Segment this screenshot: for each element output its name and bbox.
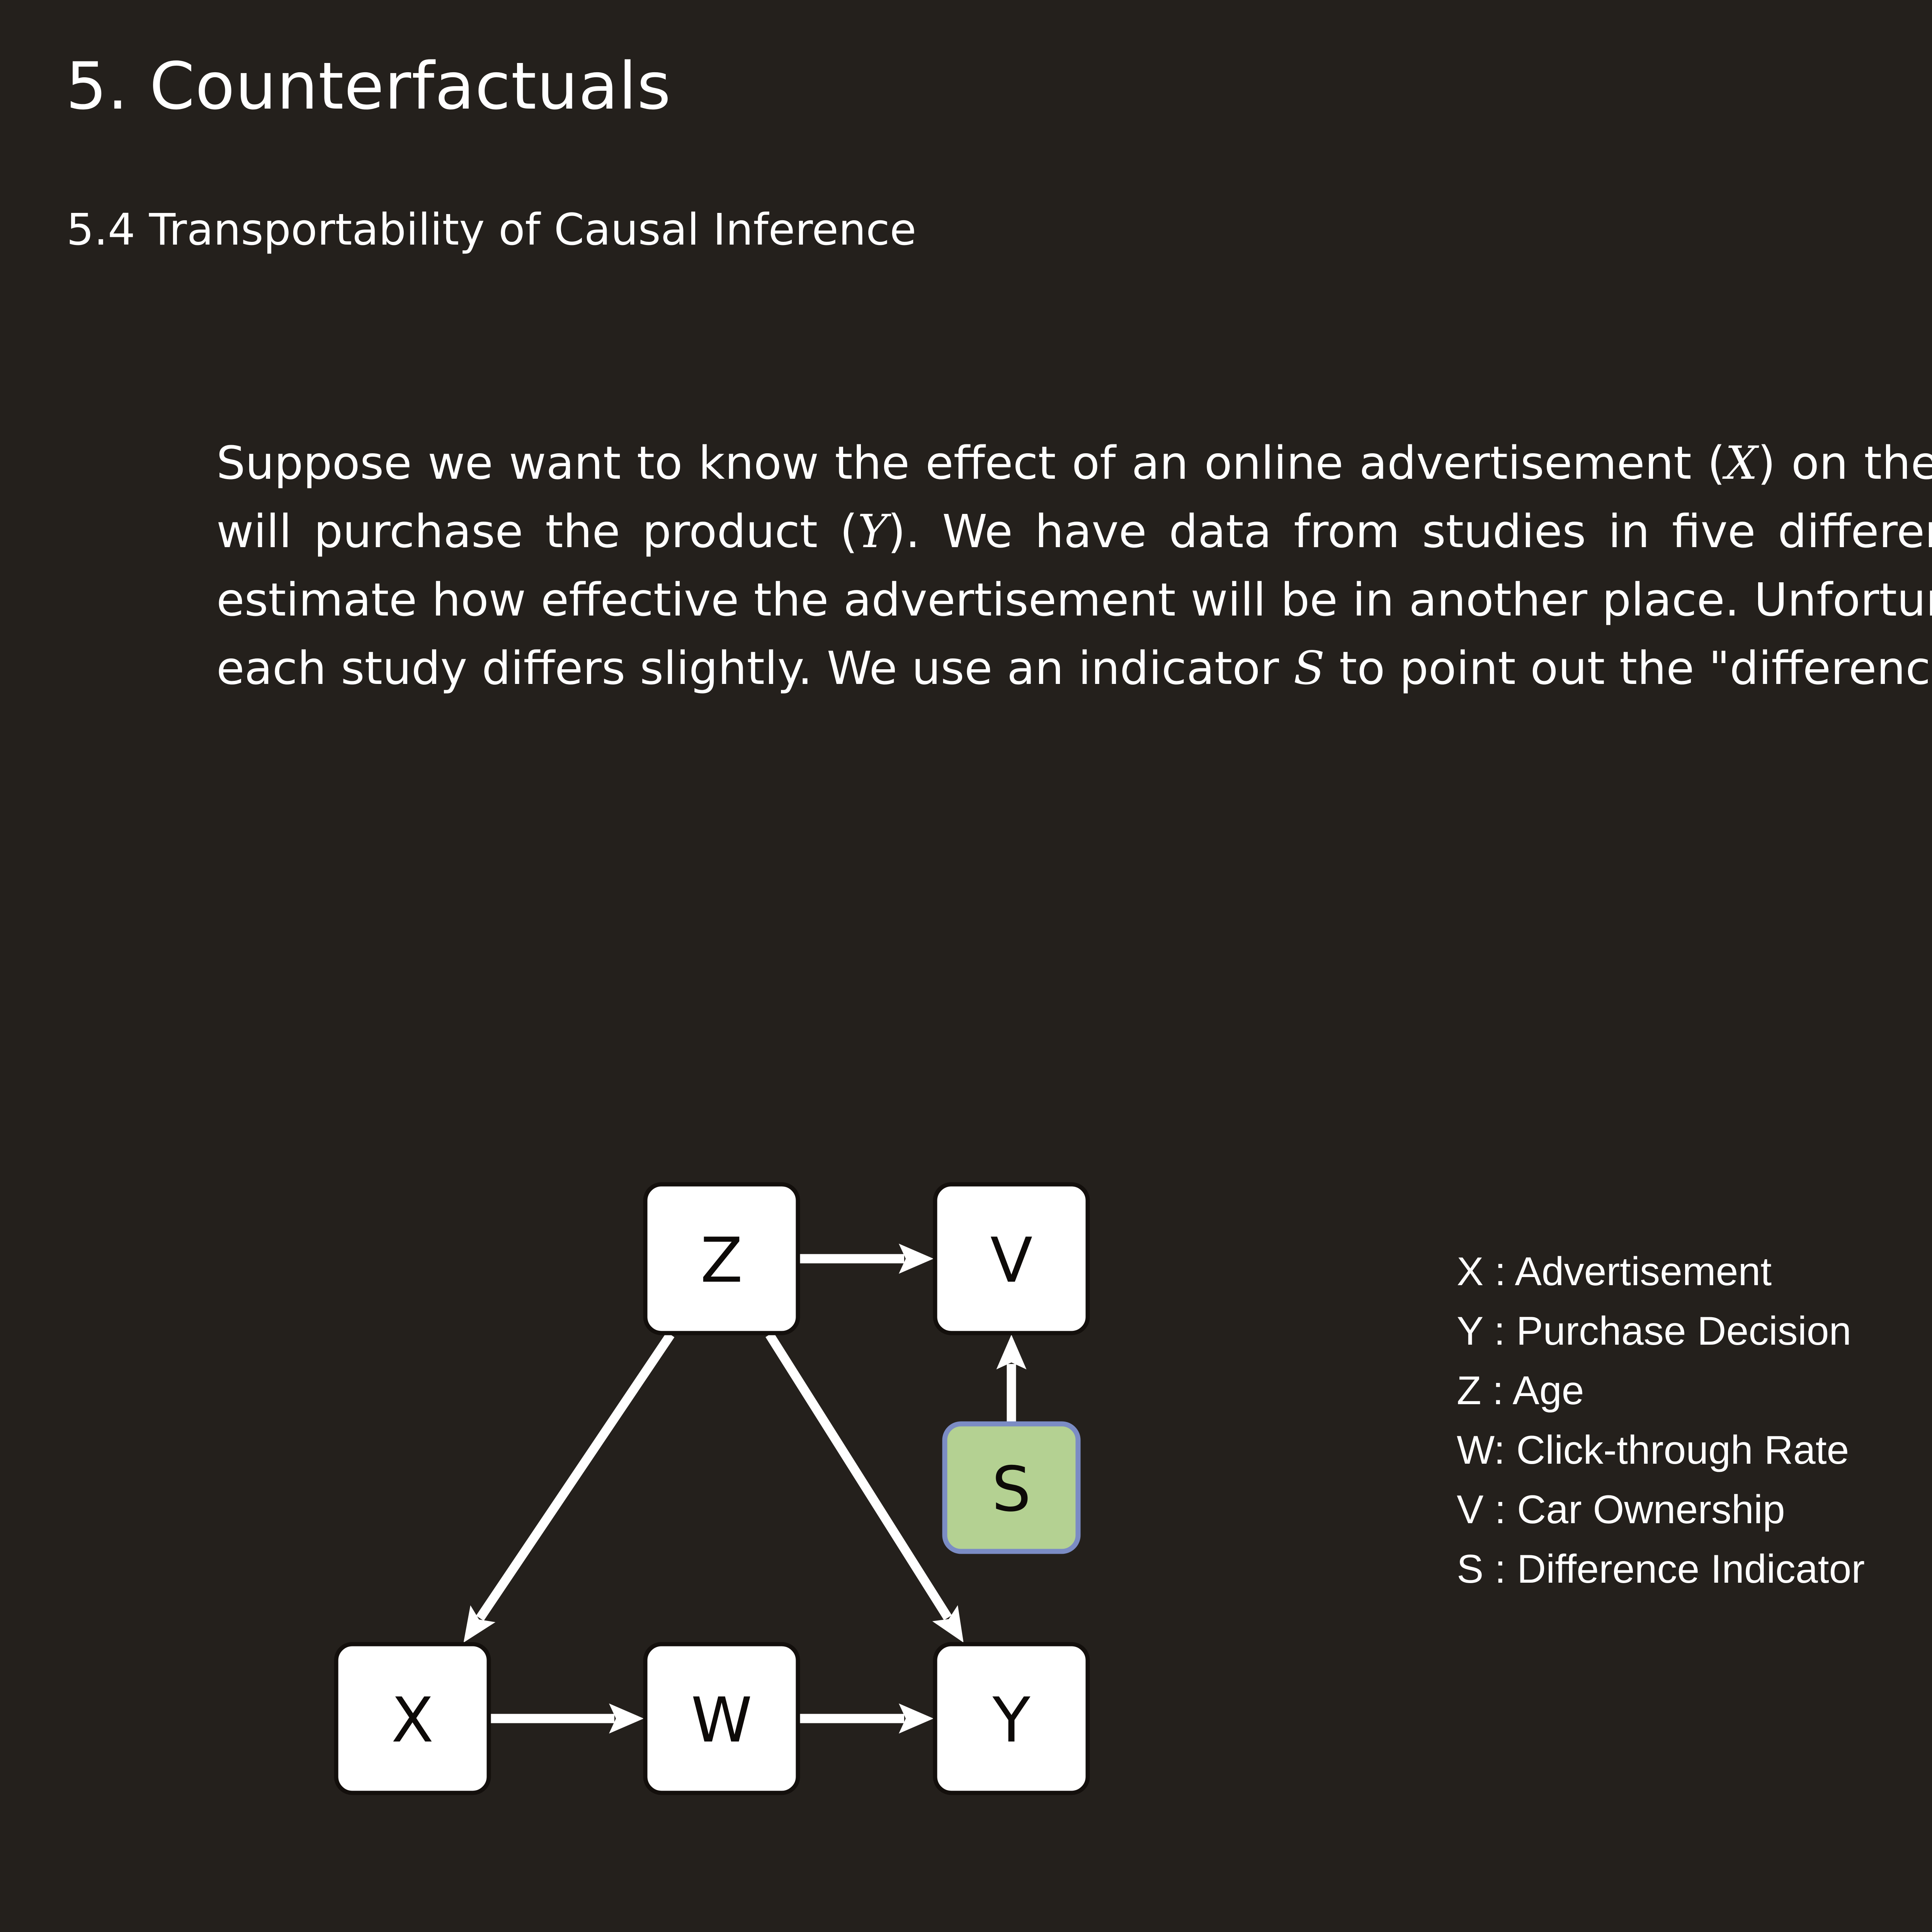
- causal-dag-diagram: ZVSXWY: [270, 1140, 1198, 1835]
- variable-y: Y: [858, 505, 888, 558]
- legend-row-1: Y : Purchase Decision: [1457, 1302, 1865, 1361]
- variable-s: S: [1294, 641, 1325, 695]
- dag-node-label-Y: Y: [992, 1684, 1031, 1756]
- body-text-part4: to point out the "difference-producing" …: [1325, 641, 1932, 695]
- dag-node-label-S: S: [992, 1453, 1031, 1526]
- dag-node-V[interactable]: V: [935, 1184, 1088, 1333]
- variable-x: X: [1725, 436, 1758, 490]
- dag-node-label-X: X: [391, 1684, 434, 1756]
- body-paragraph: Suppose we want to know the effect of an…: [216, 429, 1932, 702]
- dag-node-S[interactable]: S: [945, 1424, 1078, 1551]
- dag-node-W[interactable]: W: [645, 1644, 798, 1793]
- dag-node-Z[interactable]: Z: [645, 1184, 798, 1333]
- dag-node-label-Z: Z: [701, 1224, 743, 1296]
- legend-row-4: V : Car Ownership: [1457, 1480, 1865, 1540]
- legend-row-3: W: Click-through Rate: [1457, 1421, 1865, 1480]
- page-title: 5. Counterfactuals: [66, 48, 671, 124]
- dag-node-label-W: W: [691, 1684, 752, 1756]
- dag-node-label-V: V: [990, 1224, 1032, 1296]
- dag-edge-Z-Y: [769, 1335, 948, 1618]
- dag-node-Y[interactable]: Y: [935, 1644, 1088, 1793]
- body-text-part1: Suppose we want to know the effect of an…: [216, 436, 1725, 490]
- legend-row-0: X : Advertisement: [1457, 1242, 1865, 1302]
- dag-edge-Z-X: [480, 1335, 670, 1618]
- legend-row-2: Z : Age: [1457, 1361, 1865, 1421]
- dag-node-X[interactable]: X: [336, 1644, 489, 1793]
- dag-nodes: ZVSXWY: [336, 1184, 1088, 1793]
- variable-legend: X : AdvertisementY : Purchase DecisionZ …: [1457, 1242, 1865, 1599]
- slide-root: 5. Counterfactuals 5.4 Transportability …: [0, 0, 1932, 1932]
- legend-row-5: S : Difference Indicator: [1457, 1540, 1865, 1599]
- page-subtitle: 5.4 Transportability of Causal Inference: [66, 205, 917, 255]
